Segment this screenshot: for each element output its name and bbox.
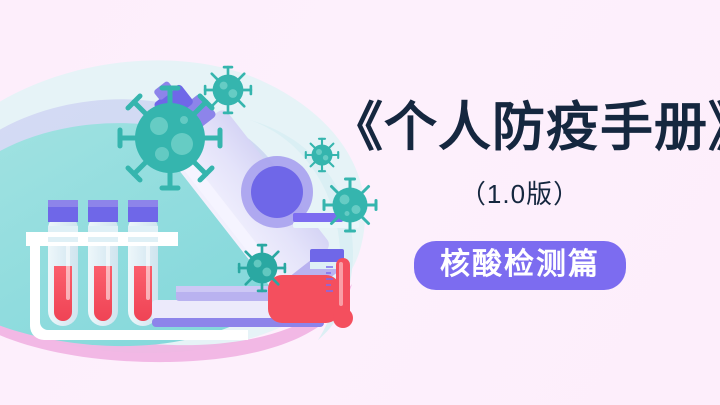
section-badge[interactable]: 核酸检测篇 xyxy=(414,241,626,291)
large-virus-icon xyxy=(120,88,220,188)
small-virus-bottom-icon xyxy=(239,245,285,291)
test-tube-2 xyxy=(88,200,118,326)
version-subtitle: （1.0版） xyxy=(330,174,710,211)
small-virus-top-icon xyxy=(205,67,251,113)
title-block: 《个人防疫手册》 （1.0版） 核酸检测篇 xyxy=(330,100,710,330)
page-title: 《个人防疫手册》 xyxy=(330,100,710,156)
microscope-lens xyxy=(251,166,303,218)
test-tube-1 xyxy=(48,200,78,326)
poster-canvas: 《个人防疫手册》 （1.0版） 核酸检测篇 xyxy=(0,0,720,405)
badge-wrapper: 核酸检测篇 xyxy=(330,241,710,291)
